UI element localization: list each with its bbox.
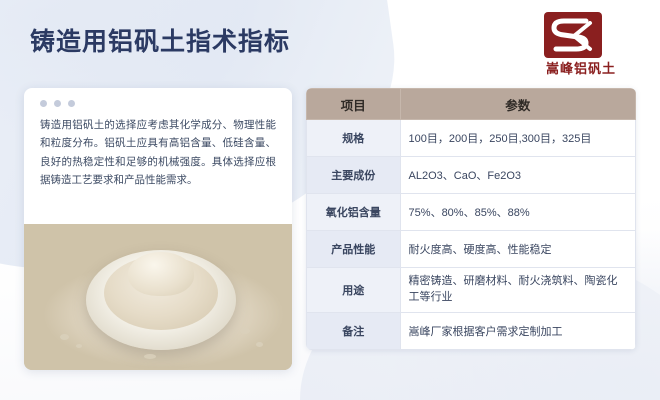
dot-icon-2	[54, 100, 61, 107]
table-header-row: 项目 参数	[307, 89, 636, 120]
row-label: 备注	[307, 313, 401, 350]
table-header-param: 参数	[400, 89, 635, 120]
page-title: 铸造用铝矾土指术指标	[30, 22, 290, 58]
row-label: 氧化铝含量	[307, 194, 401, 231]
card-description: 铸造用铝矾土的选择应考虑其化学成分、物理性能和粒度分布。铝矾土应具有高铝含量、低…	[40, 116, 276, 190]
company-logo: 嵩峰铝矾土	[516, 10, 646, 80]
row-label: 主要成份	[307, 157, 401, 194]
row-value: 嵩峰厂家根据客户需求定制加工	[400, 313, 635, 350]
spec-table: 项目 参数 规格 100目，200目，250目,300目，325目 主要成份 A…	[306, 88, 636, 350]
bauxite-powder-photo	[24, 224, 292, 370]
table-head: 项目 参数	[307, 89, 636, 120]
row-value: 耐火度高、硬度高、性能稳定	[400, 231, 635, 268]
row-value: 100目，200目，250目,300目，325目	[400, 120, 635, 157]
powder-scatter-5	[144, 354, 156, 359]
powder-scatter-2	[76, 344, 82, 348]
logo-text: 嵩峰铝矾土	[516, 58, 646, 77]
table-row: 规格 100目，200目，250目,300目，325目	[307, 120, 636, 157]
s-monogram-icon	[544, 12, 602, 58]
table-row: 备注 嵩峰厂家根据客户需求定制加工	[307, 313, 636, 350]
table-row: 氧化铝含量 75%、80%、85%、88%	[307, 194, 636, 231]
table-row: 主要成份 AL2O3、CaO、Fe2O3	[307, 157, 636, 194]
row-value: 75%、80%、85%、88%	[400, 194, 635, 231]
row-value: 精密铸造、研磨材料、耐火浇筑料、陶瓷化工等行业	[400, 268, 635, 313]
powder-scatter-1	[60, 334, 69, 340]
row-label: 用途	[307, 268, 401, 313]
row-value: AL2O3、CaO、Fe2O3	[400, 157, 635, 194]
dot-icon-1	[40, 100, 47, 107]
row-label: 规格	[307, 120, 401, 157]
powder-scatter-4	[256, 342, 263, 347]
table-body: 规格 100目，200目，250目,300目，325目 主要成份 AL2O3、C…	[307, 120, 636, 350]
table-row: 用途 精密铸造、研磨材料、耐火浇筑料、陶瓷化工等行业	[307, 268, 636, 313]
row-label: 产品性能	[307, 231, 401, 268]
card-dots	[40, 100, 75, 107]
powder-scatter-3	[240, 328, 250, 334]
dot-icon-3	[68, 100, 75, 107]
table-row: 产品性能 耐火度高、硬度高、性能稳定	[307, 231, 636, 268]
slide-page: 铸造用铝矾土指术指标 嵩峰铝矾土 铸造用铝矾土的选择应考虑其化学成分、物理性能和…	[0, 0, 660, 400]
table-header-item: 项目	[307, 89, 401, 120]
powder-mound-shape	[128, 252, 194, 296]
info-card: 铸造用铝矾土的选择应考虑其化学成分、物理性能和粒度分布。铝矾土应具有高铝含量、低…	[24, 88, 292, 370]
